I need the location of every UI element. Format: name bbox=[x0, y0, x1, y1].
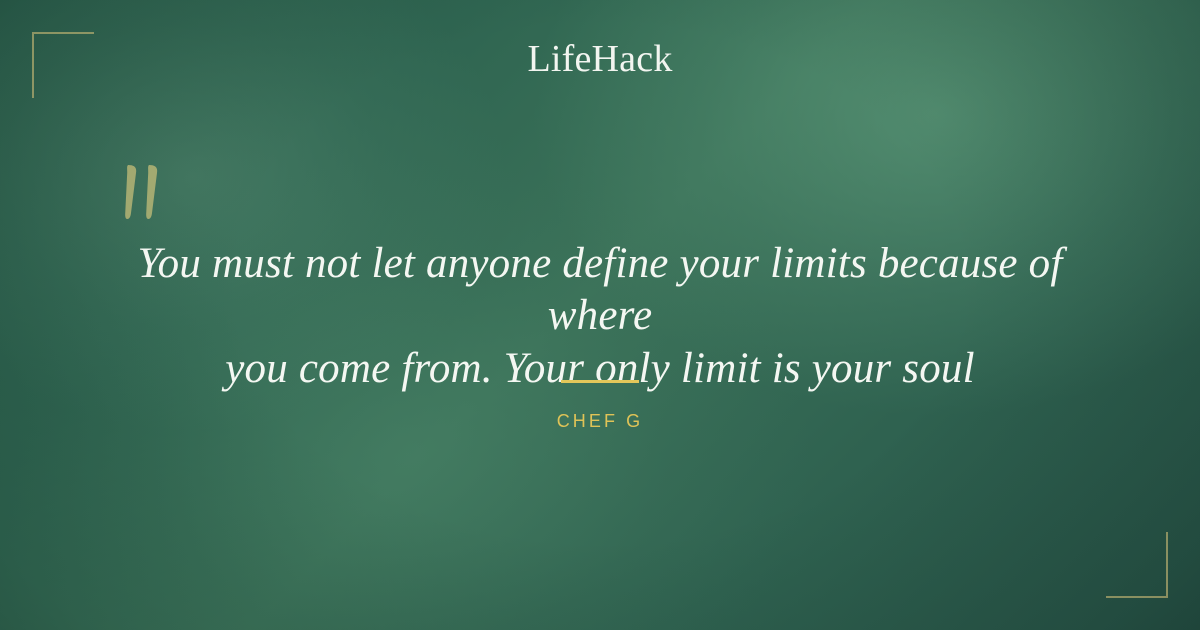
quote-line-1: You must not let anyone define your limi… bbox=[100, 238, 1100, 343]
corner-bracket-bottom-right-icon bbox=[1106, 532, 1168, 598]
quote-mark-icon bbox=[118, 163, 174, 221]
attribution-divider bbox=[561, 380, 639, 383]
brand-logo: LifeHack bbox=[0, 40, 1200, 78]
attribution-author: CHEF G bbox=[0, 411, 1200, 432]
quote-card: LifeHack You must not let anyone define … bbox=[0, 0, 1200, 630]
attribution-block: CHEF G bbox=[0, 380, 1200, 432]
quote-block: You must not let anyone define your limi… bbox=[100, 238, 1100, 395]
